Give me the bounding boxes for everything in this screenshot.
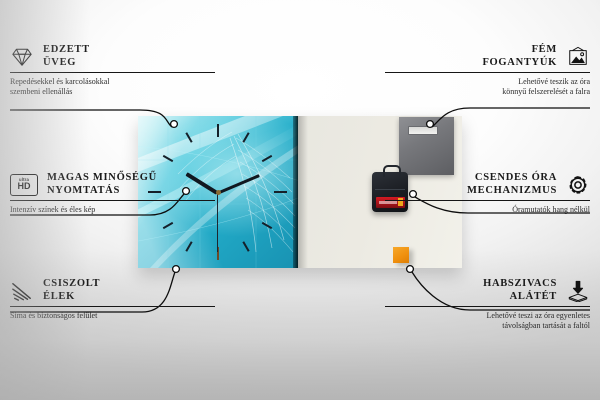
callout-tempered-glass: EDZETT ÜVEG Repedésekkel és karcolásokka… [10, 44, 215, 97]
callout-subtitle: Lehetővé teszik az óra könnyű felszerelé… [385, 77, 590, 97]
foam-pad-arrow-icon [566, 280, 590, 302]
callout-subtitle: Intenzív színek és éles kép [10, 205, 215, 215]
callout-header: CSISZOLT ÉLEK [10, 278, 215, 303]
divider [385, 306, 590, 307]
divider [385, 200, 590, 201]
callout-title: CSENDES ÓRA MECHANIZMUS [385, 172, 557, 197]
callout-title: MAGAS MINŐSÉGŰ NYOMTATÁS [47, 172, 157, 197]
callout-subtitle: Lehetővé teszi az óra egyenletes távolsá… [385, 311, 590, 331]
clock-tick [274, 191, 287, 193]
second-hand [217, 192, 218, 252]
badge-hd-text: HD [18, 182, 31, 191]
gear-icon [566, 174, 590, 196]
callout-header: FÉM FOGANTYÚK [385, 44, 590, 69]
clock-tick [217, 124, 219, 137]
divider [10, 306, 215, 307]
clock-hub [216, 190, 221, 195]
callout-subtitle: Repedésekkel és karcolásokkal szembeni e… [10, 77, 215, 97]
diamond-icon [10, 46, 34, 68]
panel-shadow [298, 116, 308, 268]
callout-silent-mechanism: CSENDES ÓRA MECHANIZMUS Óramutatók hang … [385, 172, 590, 215]
callout-header: HABSZIVACS ALÁTÉT [385, 278, 590, 303]
callout-title: FÉM FOGANTYÚK [385, 44, 557, 69]
callout-title: HABSZIVACS ALÁTÉT [385, 278, 557, 303]
ultra-hd-badge-icon: ultra HD [10, 174, 38, 196]
callout-title: EDZETT ÜVEG [43, 44, 90, 69]
callout-header: ultra HD MAGAS MINŐSÉGŰ NYOMTATÁS [10, 172, 215, 197]
callout-subtitle: Sima és biztonságos felület [10, 311, 215, 321]
metal-hanger-bracket [399, 117, 454, 175]
picture-frame-icon [566, 46, 590, 68]
callout-header: EDZETT ÜVEG [10, 44, 215, 69]
callout-metal-handles: FÉM FOGANTYÚK Lehetővé teszik az óra kön… [385, 44, 590, 97]
callout-subtitle: Óramutatók hang nélkül [385, 205, 590, 215]
infographic-canvas: EDZETT ÜVEG Repedésekkel és karcolásokka… [0, 0, 600, 400]
divider [385, 72, 590, 73]
polished-edges-icon [10, 280, 34, 302]
callout-title: CSISZOLT ÉLEK [43, 278, 100, 303]
callout-header: CSENDES ÓRA MECHANIZMUS [385, 172, 590, 197]
foam-pad [393, 247, 409, 263]
callout-polished-edges: CSISZOLT ÉLEK Sima és biztonságos felüle… [10, 278, 215, 321]
callout-high-quality-print: ultra HD MAGAS MINŐSÉGŰ NYOMTATÁS Intenz… [10, 172, 215, 215]
hanger-slot [408, 126, 438, 135]
divider [10, 200, 215, 201]
divider [10, 72, 215, 73]
callout-foam-pad: HABSZIVACS ALÁTÉT Lehetővé teszi az óra … [385, 278, 590, 331]
